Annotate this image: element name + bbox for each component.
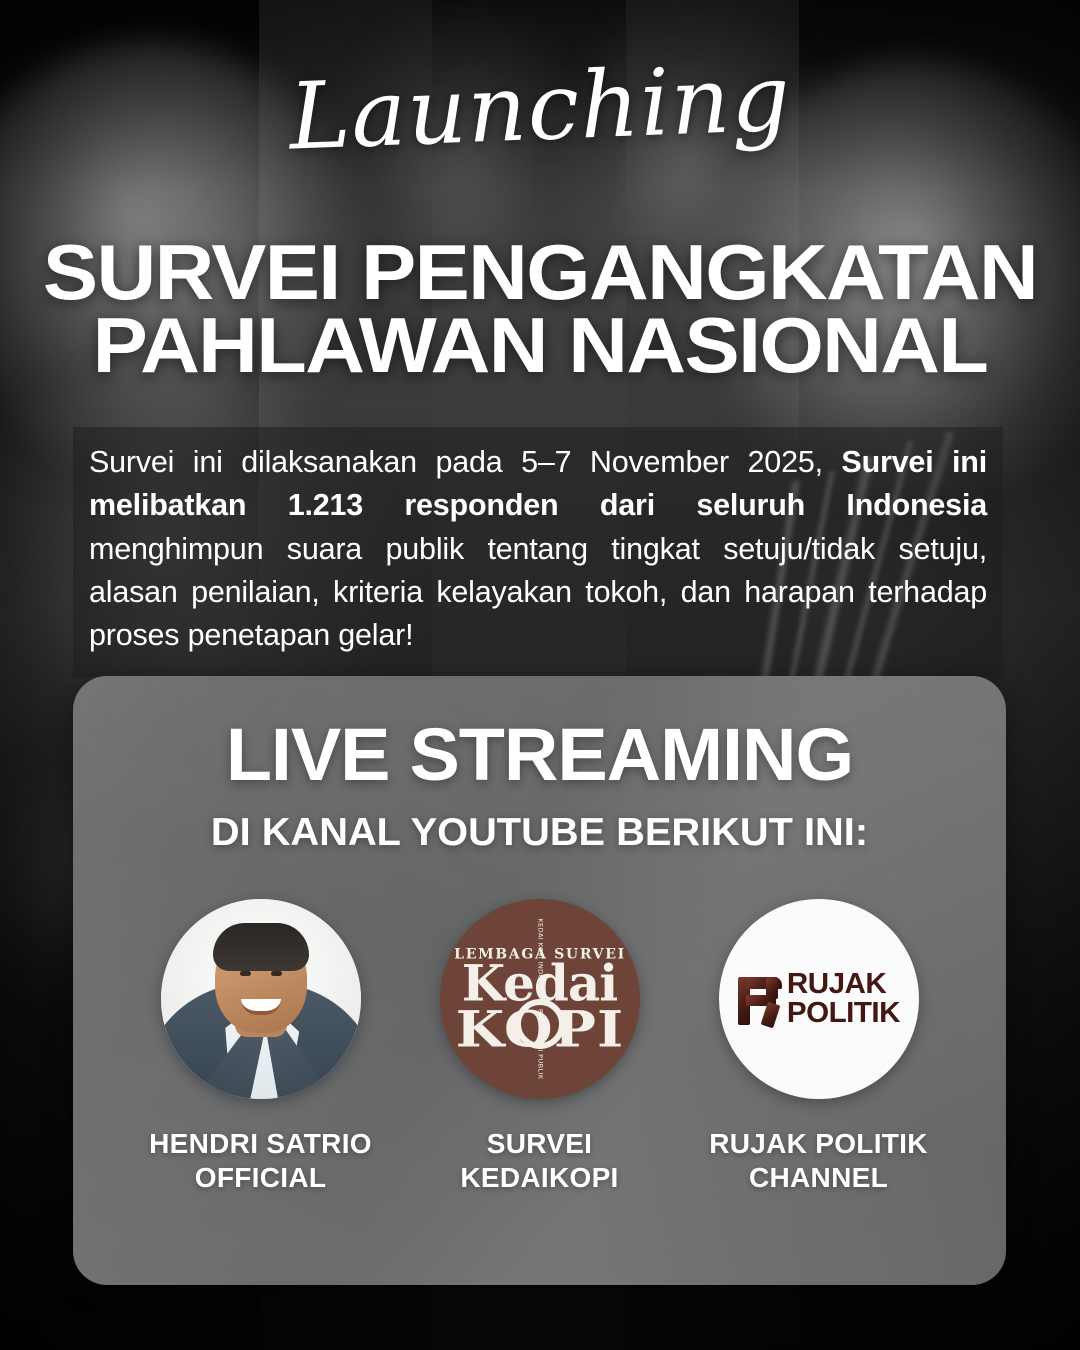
rujak-logo-line-1: RUJAK bbox=[787, 970, 900, 999]
launching-script-title: Launching bbox=[0, 41, 1080, 174]
portrait-eye-left bbox=[240, 971, 251, 976]
rujak-logo-stack: RUJAK POLITIK bbox=[719, 970, 919, 1028]
rujak-logo-wordmark: RUJAK POLITIK bbox=[787, 970, 900, 1028]
page-title: SURVEI PENGANGKATAN PAHLAWAN NASIONAL bbox=[10, 236, 1070, 381]
channel-name-rujak-politik: RUJAK POLITIK CHANNEL bbox=[691, 1127, 946, 1195]
channel-name-line-2: OFFICIAL bbox=[195, 1162, 327, 1193]
rujak-politik-logo-icon[interactable]: RUJAK POLITIK bbox=[719, 899, 919, 1099]
live-streaming-card: LIVE STREAMING DI KANAL YOUTUBE BERIKUT … bbox=[73, 676, 1006, 1285]
channel-list: HENDRI SATRIO OFFICIAL LEMBAGA SURVEI Ke… bbox=[73, 899, 1006, 1195]
poster-canvas: Launching SURVEI PENGANGKATAN PAHLAWAN N… bbox=[0, 0, 1080, 1350]
rujak-logo-line-2: POLITIK bbox=[787, 999, 900, 1028]
channel-hendri-satrio[interactable]: HENDRI SATRIO OFFICIAL bbox=[133, 899, 388, 1195]
kedaikopi-logo-icon[interactable]: LEMBAGA SURVEI Kedai KOPI KEDAI KOPI IND… bbox=[440, 899, 640, 1099]
hendri-satrio-avatar[interactable] bbox=[161, 899, 361, 1099]
channel-name-line-1: RUJAK POLITIK bbox=[709, 1128, 928, 1159]
channel-rujak-politik[interactable]: RUJAK POLITIK RUJAK POLITIK CHANNEL bbox=[691, 899, 946, 1195]
channel-name-line-2: CHANNEL bbox=[749, 1162, 888, 1193]
channel-name-kedaikopi: SURVEI KEDAIKOPI bbox=[412, 1127, 667, 1195]
portrait-hair bbox=[213, 923, 309, 971]
channel-name-line-2: KEDAIKOPI bbox=[460, 1162, 618, 1193]
kedaikopi-logo-side-text: KEDAI KOPI INDONESIA · RISET OPINI PUBLI… bbox=[537, 918, 545, 1079]
channel-survei-kedaikopi[interactable]: LEMBAGA SURVEI Kedai KOPI KEDAI KOPI IND… bbox=[412, 899, 667, 1195]
rujak-r-monogram-icon bbox=[738, 973, 784, 1025]
channel-name-line-1: HENDRI SATRIO bbox=[149, 1128, 372, 1159]
survey-description: Survei ini dilaksanakan pada 5–7 Novembe… bbox=[73, 427, 1003, 677]
channel-name-hendri-satrio: HENDRI SATRIO OFFICIAL bbox=[133, 1127, 388, 1195]
live-streaming-subheading: DI KANAL YOUTUBE BERIKUT INI: bbox=[73, 811, 1006, 855]
description-part-1: Survei ini dilaksanakan pada 5–7 Novembe… bbox=[89, 445, 841, 479]
poster-content: Launching SURVEI PENGANGKATAN PAHLAWAN N… bbox=[0, 0, 1080, 1350]
channel-name-line-1: SURVEI bbox=[487, 1128, 593, 1159]
page-title-line-2: PAHLAWAN NASIONAL bbox=[10, 309, 1070, 382]
live-streaming-heading: LIVE STREAMING bbox=[73, 712, 1006, 797]
portrait-eye-right bbox=[271, 971, 282, 976]
description-part-2: menghimpun suara publik tentang tingkat … bbox=[89, 532, 987, 653]
